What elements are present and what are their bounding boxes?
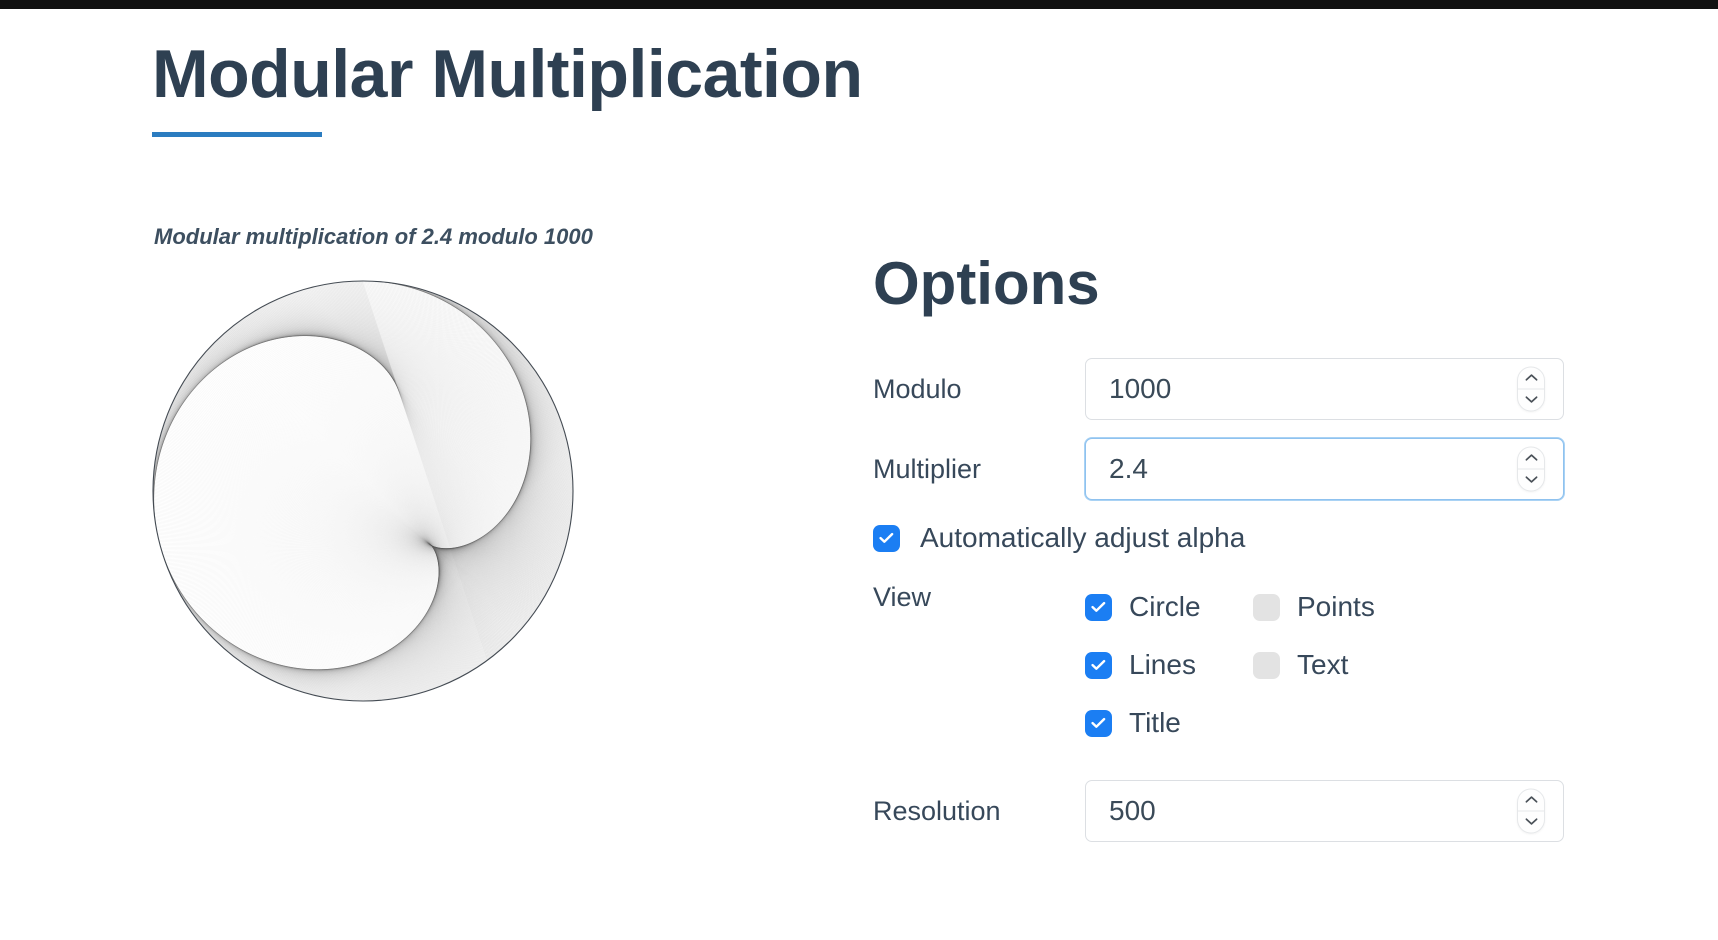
lines-checkbox[interactable] — [1085, 652, 1112, 679]
circle-checkbox[interactable] — [1085, 594, 1112, 621]
modulo-stepper-down-button[interactable] — [1518, 389, 1544, 411]
options-heading: Options — [873, 254, 1573, 314]
resolution-stepper-down-button[interactable] — [1518, 811, 1544, 833]
multiplier-stepper-down-button[interactable] — [1518, 469, 1544, 491]
modulo-stepper[interactable] — [1517, 367, 1545, 412]
modulo-input[interactable]: 1000 — [1085, 358, 1564, 420]
visualization-panel: Modular multiplication of 2.4 modulo 100… — [152, 224, 792, 824]
multiplier-label: Multiplier — [873, 456, 1085, 483]
view-checkbox-text[interactable]: Text — [1253, 651, 1348, 679]
chevron-up-icon — [1525, 796, 1538, 804]
chevron-down-icon — [1525, 476, 1538, 484]
resolution-stepper[interactable] — [1517, 789, 1545, 834]
view-checkbox-line-3: Title — [1085, 694, 1375, 752]
multiplier-field-row: Multiplier 2.4 — [873, 438, 1573, 500]
view-checkbox-grid: Circle Points Lines — [1085, 578, 1375, 752]
modulo-input-value[interactable]: 1000 — [1086, 375, 1171, 403]
resolution-label: Resolution — [873, 798, 1085, 825]
page-root: Modular Multiplication Modular multiplic… — [0, 9, 1718, 940]
auto-alpha-label: Automatically adjust alpha — [920, 524, 1245, 552]
modular-multiplication-figure — [148, 266, 668, 736]
resolution-input[interactable]: 500 — [1085, 780, 1564, 842]
page-title: Modular Multiplication — [152, 39, 863, 110]
check-icon — [1091, 601, 1106, 613]
resolution-input-value[interactable]: 500 — [1086, 797, 1156, 825]
view-checkbox-line-2: Lines Text — [1085, 636, 1375, 694]
visualization-title: Modular multiplication of 2.4 modulo 100… — [154, 224, 792, 250]
modulo-stepper-up-button[interactable] — [1518, 368, 1544, 390]
auto-alpha-checkbox[interactable] — [873, 525, 900, 552]
visualization-canvas[interactable] — [148, 266, 668, 736]
modulo-label: Modulo — [873, 376, 1085, 403]
check-icon — [1091, 717, 1106, 729]
view-checkbox-lines[interactable]: Lines — [1085, 651, 1253, 679]
view-field-row: View Circle Points — [873, 578, 1573, 752]
view-checkbox-line-1: Circle Points — [1085, 578, 1375, 636]
title-underline-rule — [152, 132, 322, 137]
multiplier-input-value[interactable]: 2.4 — [1086, 455, 1148, 483]
text-checkbox[interactable] — [1253, 652, 1280, 679]
view-label: View — [873, 578, 1085, 752]
title-checkbox[interactable] — [1085, 710, 1112, 737]
multiplier-input[interactable]: 2.4 — [1085, 438, 1564, 500]
view-checkbox-points[interactable]: Points — [1253, 593, 1375, 621]
chevron-up-icon — [1525, 374, 1538, 382]
check-icon — [1091, 659, 1106, 671]
view-checkbox-title[interactable]: Title — [1085, 709, 1253, 737]
text-checkbox-label: Text — [1297, 651, 1348, 679]
resolution-field-row: Resolution 500 — [873, 780, 1573, 842]
lines-checkbox-label: Lines — [1129, 651, 1196, 679]
multiplier-stepper[interactable] — [1517, 447, 1545, 492]
view-checkbox-circle[interactable]: Circle — [1085, 593, 1253, 621]
options-panel: Options Modulo 1000 — [873, 254, 1573, 860]
modulo-field-row: Modulo 1000 — [873, 358, 1573, 420]
page-header: Modular Multiplication — [152, 39, 863, 137]
chevron-down-icon — [1525, 818, 1538, 826]
chevron-down-icon — [1525, 396, 1538, 404]
multiplier-stepper-up-button[interactable] — [1518, 448, 1544, 470]
check-icon — [879, 532, 894, 544]
chevron-up-icon — [1525, 454, 1538, 462]
points-checkbox[interactable] — [1253, 594, 1280, 621]
top-black-bar — [0, 0, 1718, 9]
points-checkbox-label: Points — [1297, 593, 1375, 621]
auto-alpha-row[interactable]: Automatically adjust alpha — [873, 518, 1573, 558]
title-checkbox-label: Title — [1129, 709, 1181, 737]
circle-checkbox-label: Circle — [1129, 593, 1201, 621]
resolution-stepper-up-button[interactable] — [1518, 790, 1544, 812]
